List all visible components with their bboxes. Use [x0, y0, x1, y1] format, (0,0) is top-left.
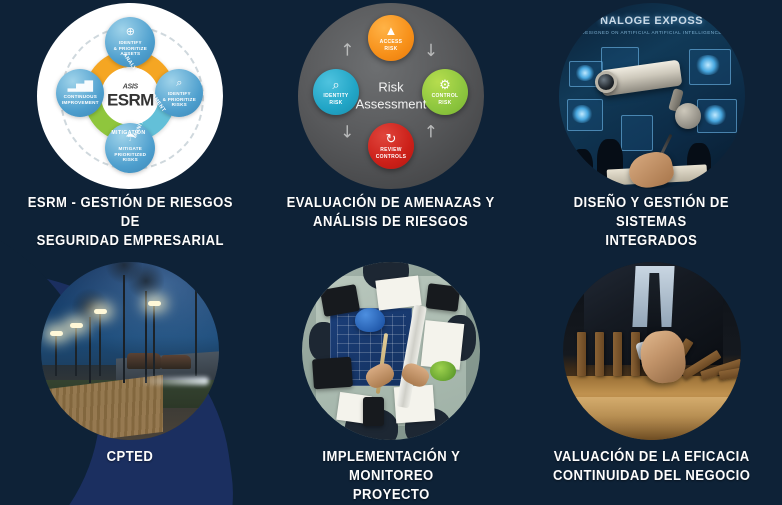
street-lamp [153, 306, 155, 376]
magnifier-icon: ⌕ [176, 78, 182, 89]
esrm-node-label: IDENTIFY & PRIORITIZE RISKS [160, 91, 199, 108]
writing-hand [626, 149, 676, 189]
arrow-down-left-icon: ↙ [420, 120, 442, 142]
asis-brand-label: ASIS [107, 84, 154, 91]
trend-chart-icon: ▲ [385, 24, 398, 37]
arrow-up-right-icon: ↗ [336, 38, 358, 60]
security-camera-mount [675, 103, 701, 129]
domino-tile [595, 332, 604, 376]
bare-tree [123, 275, 125, 383]
risk-node-label: IDENTITY RISK [323, 93, 348, 106]
cpted-night-street-photo [41, 262, 219, 440]
card-risk-caption: EVALUACIÓN DE AMENAZAS Y ANÁLISIS DE RIE… [278, 194, 504, 232]
hud-panel [621, 115, 653, 151]
street-lamp [75, 328, 77, 376]
risk-node-label: REVIEW CONTROLS [376, 147, 406, 160]
arrow-down-right-icon: ↘ [420, 38, 442, 60]
card-cpted-image-wrap [0, 252, 261, 444]
biometric-eye-icon [575, 65, 595, 81]
card-cpted-caption: CPTED [98, 448, 163, 467]
card-grid: MONITORING ANALYSIS ASSESSMENT MITIGATIO… [0, 0, 782, 505]
card-esrm[interactable]: MONITORING ANALYSIS ASSESSMENT MITIGATIO… [0, 0, 261, 252]
card-integrated-systems-caption: DISEÑO Y GESTIÓN DE SISTEMAS INTEGRADOS [534, 194, 769, 251]
smartphone-device [363, 397, 384, 425]
bar-chart-icon: ▂▅▇ [68, 81, 93, 92]
magnifier-icon: ⌕ [332, 78, 339, 91]
parked-car [127, 353, 161, 369]
risk-node-label: ACCESS RISK [380, 39, 403, 52]
card-business-continuity[interactable]: VALUACIÓN DE LA EFICACIA CONTINUIDAD DEL… [521, 252, 782, 505]
laptop-device [312, 357, 353, 390]
risk-node-identity-risk[interactable]: ⌕ IDENTITY RISK [313, 69, 359, 115]
card-cpted[interactable]: CPTED [0, 252, 261, 505]
card-implementation[interactable]: IMPLEMENTACIÓN Y MONITOREO PROYECTO [261, 252, 522, 505]
team-meeting-photo [302, 262, 480, 440]
card-integrated-systems[interactable]: NALOGE EXPOSS DESIGNED ON ARTIFICIAL ART… [521, 0, 782, 252]
risk-node-review-controls[interactable]: ↻ REVIEW CONTROLS [368, 123, 414, 169]
esrm-segment-label-mitigation: MITIGATION [111, 130, 145, 136]
biometric-eye-icon [695, 55, 721, 75]
card-implementation-caption: IMPLEMENTACIÓN Y MONITOREO PROYECTO [274, 448, 509, 505]
slide-canvas: MONITORING ANALYSIS ASSESSMENT MITIGATIO… [0, 0, 782, 505]
esrm-center-title: ESRM [107, 92, 154, 109]
cctv-overlay-subtitle: DESIGNED ON ARTIFICIAL ARTIFICIAL INTELL… [559, 30, 745, 35]
arrow-up-left-icon: ↖ [336, 120, 358, 142]
card-esrm-caption: ESRM - GESTIÓN DE RIESGOS DE SEGURIDAD E… [13, 194, 248, 251]
gears-icon: ⚙ [439, 78, 451, 91]
esrm-node-label: IDENTIFY & PRIORITIZE ASSETS [111, 40, 150, 57]
biometric-eye-icon [571, 105, 593, 123]
hard-hat-icon [355, 308, 385, 332]
biometric-eye-icon [703, 105, 727, 125]
risk-node-control-risk[interactable]: ⚙ CONTROL RISK [422, 69, 468, 115]
esrm-node-label: MITIGATE PRIORITIZED RISKS [111, 146, 149, 163]
parked-car [161, 355, 191, 369]
street-lamp [99, 314, 101, 376]
cctv-overlay-title: NALOGE EXPOSS [559, 15, 745, 27]
card-implementation-image-wrap [261, 252, 522, 444]
card-continuity-image-wrap [521, 252, 782, 444]
domino-tile [577, 332, 586, 376]
tablet-device [425, 283, 460, 312]
street-lamp [195, 262, 197, 376]
risk-node-label: CONTROL RISK [432, 93, 459, 106]
esrm-node-label: CONTINUOUS IMPROVEMENT [59, 94, 102, 106]
esrm-wheel-diagram: MONITORING ANALYSIS ASSESSMENT MITIGATIO… [37, 3, 223, 189]
esrm-center-logo: ASIS ESRM [107, 84, 154, 109]
risk-node-access-risk[interactable]: ▲ ACCESS RISK [368, 15, 414, 61]
dominoes-photo [563, 262, 741, 440]
risk-assessment-title: Risk Assessment [356, 79, 427, 112]
card-cctv-image-wrap: NALOGE EXPOSS DESIGNED ON ARTIFICIAL ART… [521, 0, 782, 192]
card-risk-image-wrap: ↗ ↘ ↙ ↖ Risk Assessment ▲ ACCESS RISK ⚙ … [261, 0, 522, 192]
cctv-ai-photo: NALOGE EXPOSS DESIGNED ON ARTIFICIAL ART… [559, 3, 745, 189]
bare-tree [145, 291, 147, 383]
desk-reflection [563, 397, 741, 440]
card-continuity-caption: VALUACIÓN DE LA EFICACIA CONTINUIDAD DEL… [544, 448, 759, 486]
street-lamp [55, 336, 57, 376]
card-esrm-image-wrap: MONITORING ANALYSIS ASSESSMENT MITIGATIO… [0, 0, 261, 192]
esrm-node-continuous-improvement[interactable]: ▂▅▇ CONTINUOUS IMPROVEMENT [56, 69, 104, 117]
target-search-icon: ⊕ [126, 27, 135, 38]
risk-assessment-diagram: ↗ ↘ ↙ ↖ Risk Assessment ▲ ACCESS RISK ⚙ … [298, 3, 484, 189]
bare-tree [89, 317, 91, 383]
person-silhouette [571, 149, 593, 189]
card-risk-assessment[interactable]: ↗ ↘ ↙ ↖ Risk Assessment ▲ ACCESS RISK ⚙ … [261, 0, 522, 252]
headlight-beam [137, 377, 209, 385]
domino-tile [613, 332, 622, 376]
refresh-icon: ↻ [386, 132, 397, 145]
tablet-device [320, 284, 360, 316]
